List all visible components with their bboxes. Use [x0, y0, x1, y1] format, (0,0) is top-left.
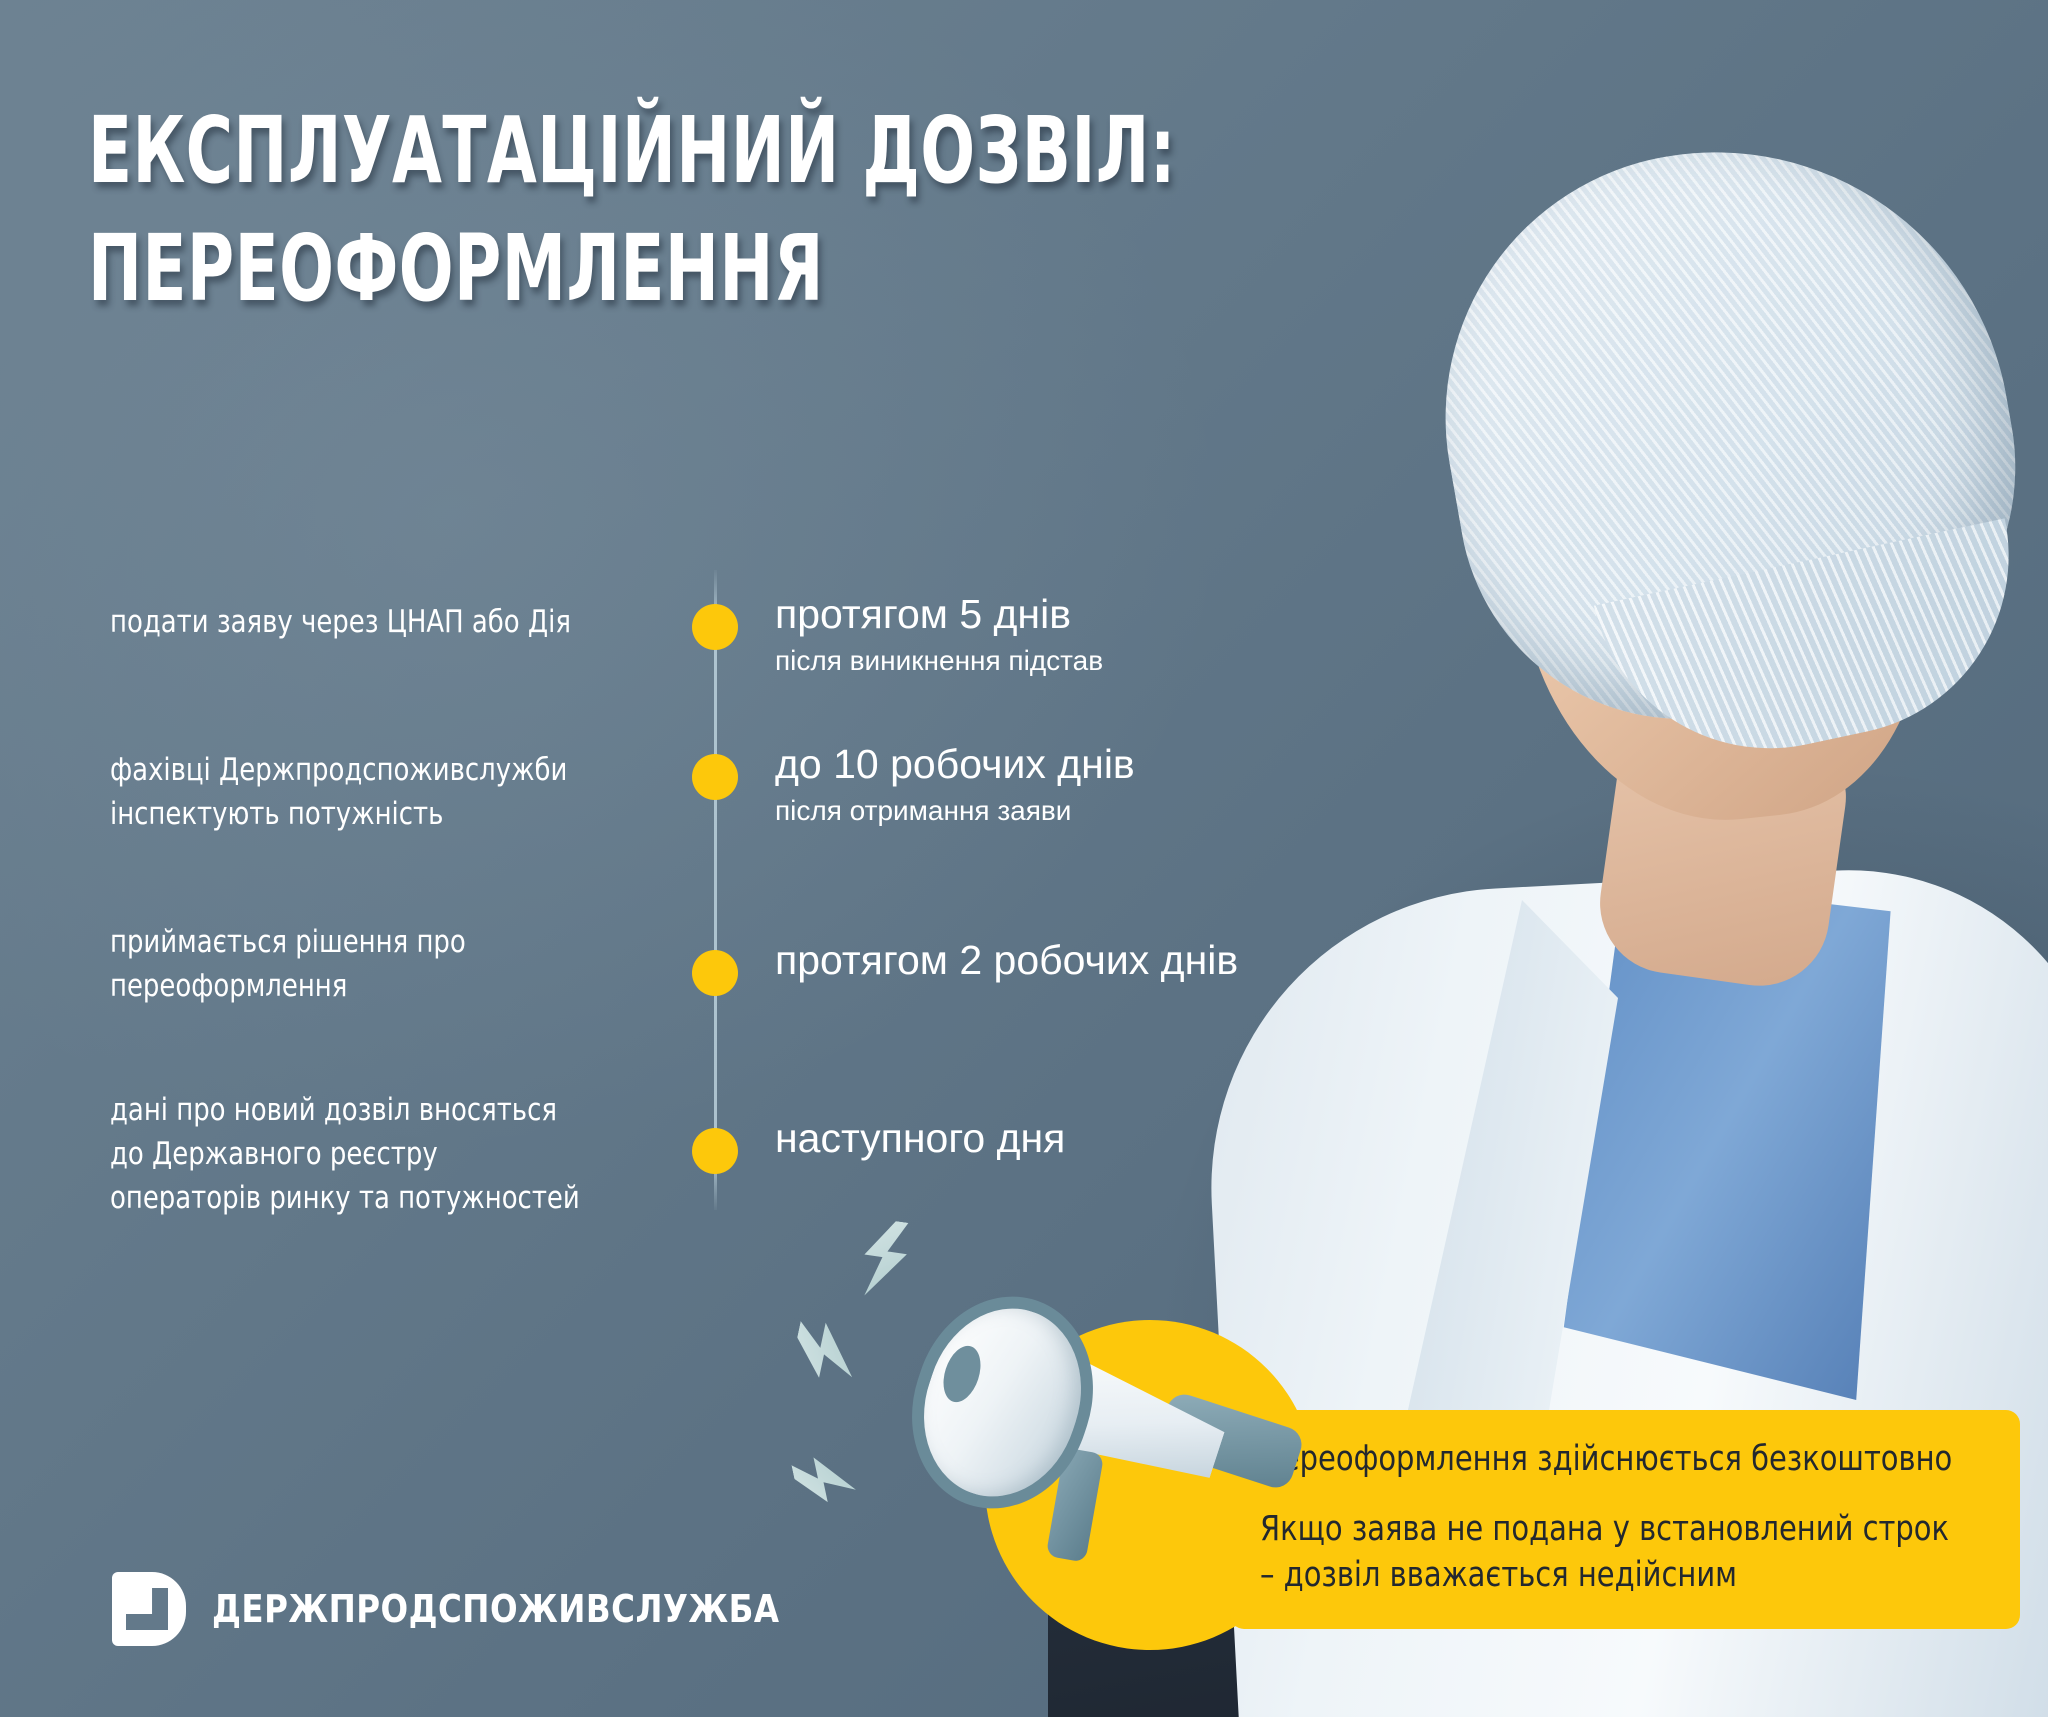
timeline-dot-icon: [692, 754, 738, 800]
step-label-1: подати заяву через ЦНАП або Дія: [110, 600, 571, 644]
timeline-dot-icon: [692, 604, 738, 650]
callout-line-1: Переоформлення здійснюється безкоштовно: [1260, 1436, 1932, 1482]
timeline-main-4: наступного дня: [775, 1116, 1065, 1162]
timeline-main-2: до 10 робочих днів: [775, 742, 1135, 788]
timeline-text-1: протягом 5 днів після виникнення підстав: [775, 592, 1103, 678]
timeline-text-3: протягом 2 робочих днів: [775, 938, 1238, 984]
step-label-2: фахівці Держпродспоживслужби інспектують…: [110, 748, 567, 836]
timeline-text-4: наступного дня: [775, 1116, 1065, 1162]
title-line-2: ПЕРЕОФОРМЛЕННЯ: [88, 210, 962, 328]
timeline-main-3: протягом 2 робочих днів: [775, 938, 1238, 984]
timeline-main-1: протягом 5 днів: [775, 592, 1103, 638]
logo-mark-icon: [112, 1572, 186, 1646]
neck: [1591, 705, 1855, 994]
timeline-dot-icon: [692, 950, 738, 996]
hairnet-cap: [1404, 106, 2048, 755]
callout-line-3: – дозвіл вважається недійсним: [1260, 1552, 1932, 1598]
logo-text: ДЕРЖПРОДСПОЖИВСЛУЖБА: [212, 1587, 780, 1631]
timeline-sub-1: після виникнення підстав: [775, 644, 1103, 678]
face: [1492, 281, 1944, 840]
timeline-axis: [714, 570, 717, 1210]
infographic-poster: ЕКСПЛУАТАЦІЙНИЙ ДОЗВІЛ: ПЕРЕОФОРМЛЕННЯ п…: [0, 0, 2048, 1717]
lightning-bolt-icon: [788, 1435, 861, 1523]
callout-line-2: Якщо заява не подана у встановлений стро…: [1260, 1506, 1932, 1552]
lightning-bolt-icon: [845, 1216, 925, 1303]
brand-logo: ДЕРЖПРОДСПОЖИВСЛУЖБА: [112, 1572, 809, 1646]
blue-shirt: [1538, 880, 1968, 1400]
step-label-3: приймається рішення про переоформлення: [110, 920, 466, 1008]
page-title: ЕКСПЛУАТАЦІЙНИЙ ДОЗВІЛ: ПЕРЕОФОРМЛЕННЯ: [88, 92, 1208, 328]
timeline-sub-2: після отримання заяви: [775, 794, 1135, 828]
step-label-4: дані про новий дозвіл вносяться до Держа…: [110, 1088, 580, 1220]
hairnet-band: [1594, 518, 2042, 781]
callout-box: Переоформлення здійснюється безкоштовно …: [1230, 1410, 2020, 1629]
title-line-1: ЕКСПЛУАТАЦІЙНИЙ ДОЗВІЛ:: [88, 92, 962, 210]
cheek-shading: [1568, 520, 1738, 700]
timeline-dot-icon: [692, 1128, 738, 1174]
lightning-bolt-icon: [786, 1300, 866, 1403]
timeline-text-2: до 10 робочих днів після отримання заяви: [775, 742, 1135, 828]
megaphone-icon: [905, 1235, 1325, 1655]
